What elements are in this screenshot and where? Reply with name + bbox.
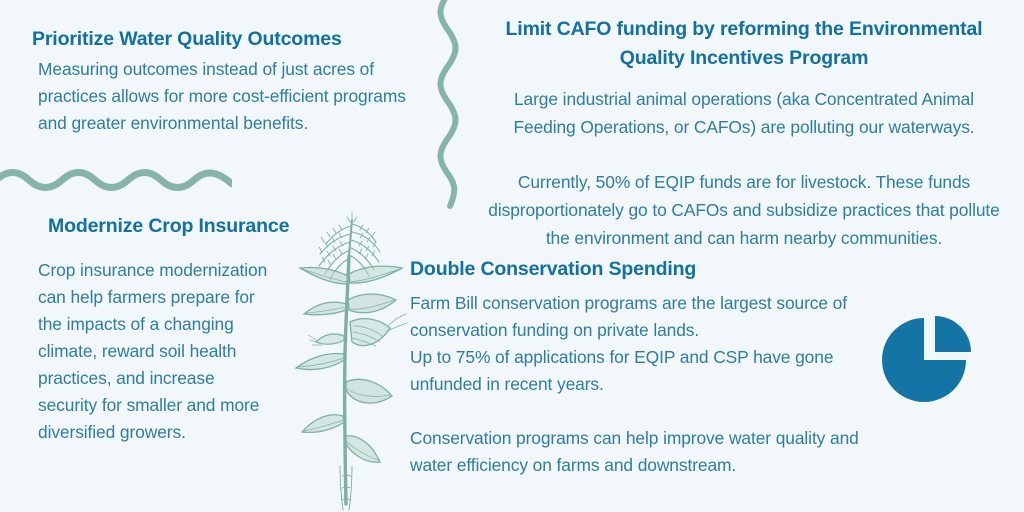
wave-divider-horizontal-icon (0, 168, 232, 198)
conservation-spending-paragraph-3: Conservation programs can help improve w… (410, 425, 896, 479)
pie-chart-icon (880, 314, 976, 410)
cafo-funding-heading: Limit CAFO funding by reforming the Envi… (490, 15, 998, 73)
water-quality-body: Measuring outcomes instead of just acres… (38, 56, 410, 137)
conservation-spending-paragraph-1: Farm Bill conservation programs are the … (410, 290, 896, 344)
pie-slice-unfunded (935, 316, 971, 352)
wave-divider-vertical-icon (424, 0, 464, 212)
cafo-funding-paragraph-1: Large industrial animal operations (aka … (486, 85, 1002, 141)
conservation-spending-body: Farm Bill conservation programs are the … (410, 290, 896, 479)
water-quality-paragraph-1: Measuring outcomes instead of just acres… (38, 56, 410, 137)
corn-plant-illustration-icon (282, 204, 410, 512)
cafo-funding-paragraph-2: Currently, 50% of EQIP funds are for liv… (486, 168, 1002, 252)
conservation-spending-heading: Double Conservation Spending (410, 257, 830, 282)
crop-insurance-body: Crop insurance modernization can help fa… (38, 257, 270, 446)
conservation-spending-paragraph-2: Up to 75% of applications for EQIP and C… (410, 344, 896, 398)
cafo-funding-body: Large industrial animal operations (aka … (486, 85, 1002, 252)
infographic-canvas: Prioritize Water Quality Outcomes Measur… (0, 0, 1024, 512)
water-quality-heading: Prioritize Water Quality Outcomes (32, 27, 392, 52)
crop-insurance-paragraph-1: Crop insurance modernization can help fa… (38, 257, 270, 446)
